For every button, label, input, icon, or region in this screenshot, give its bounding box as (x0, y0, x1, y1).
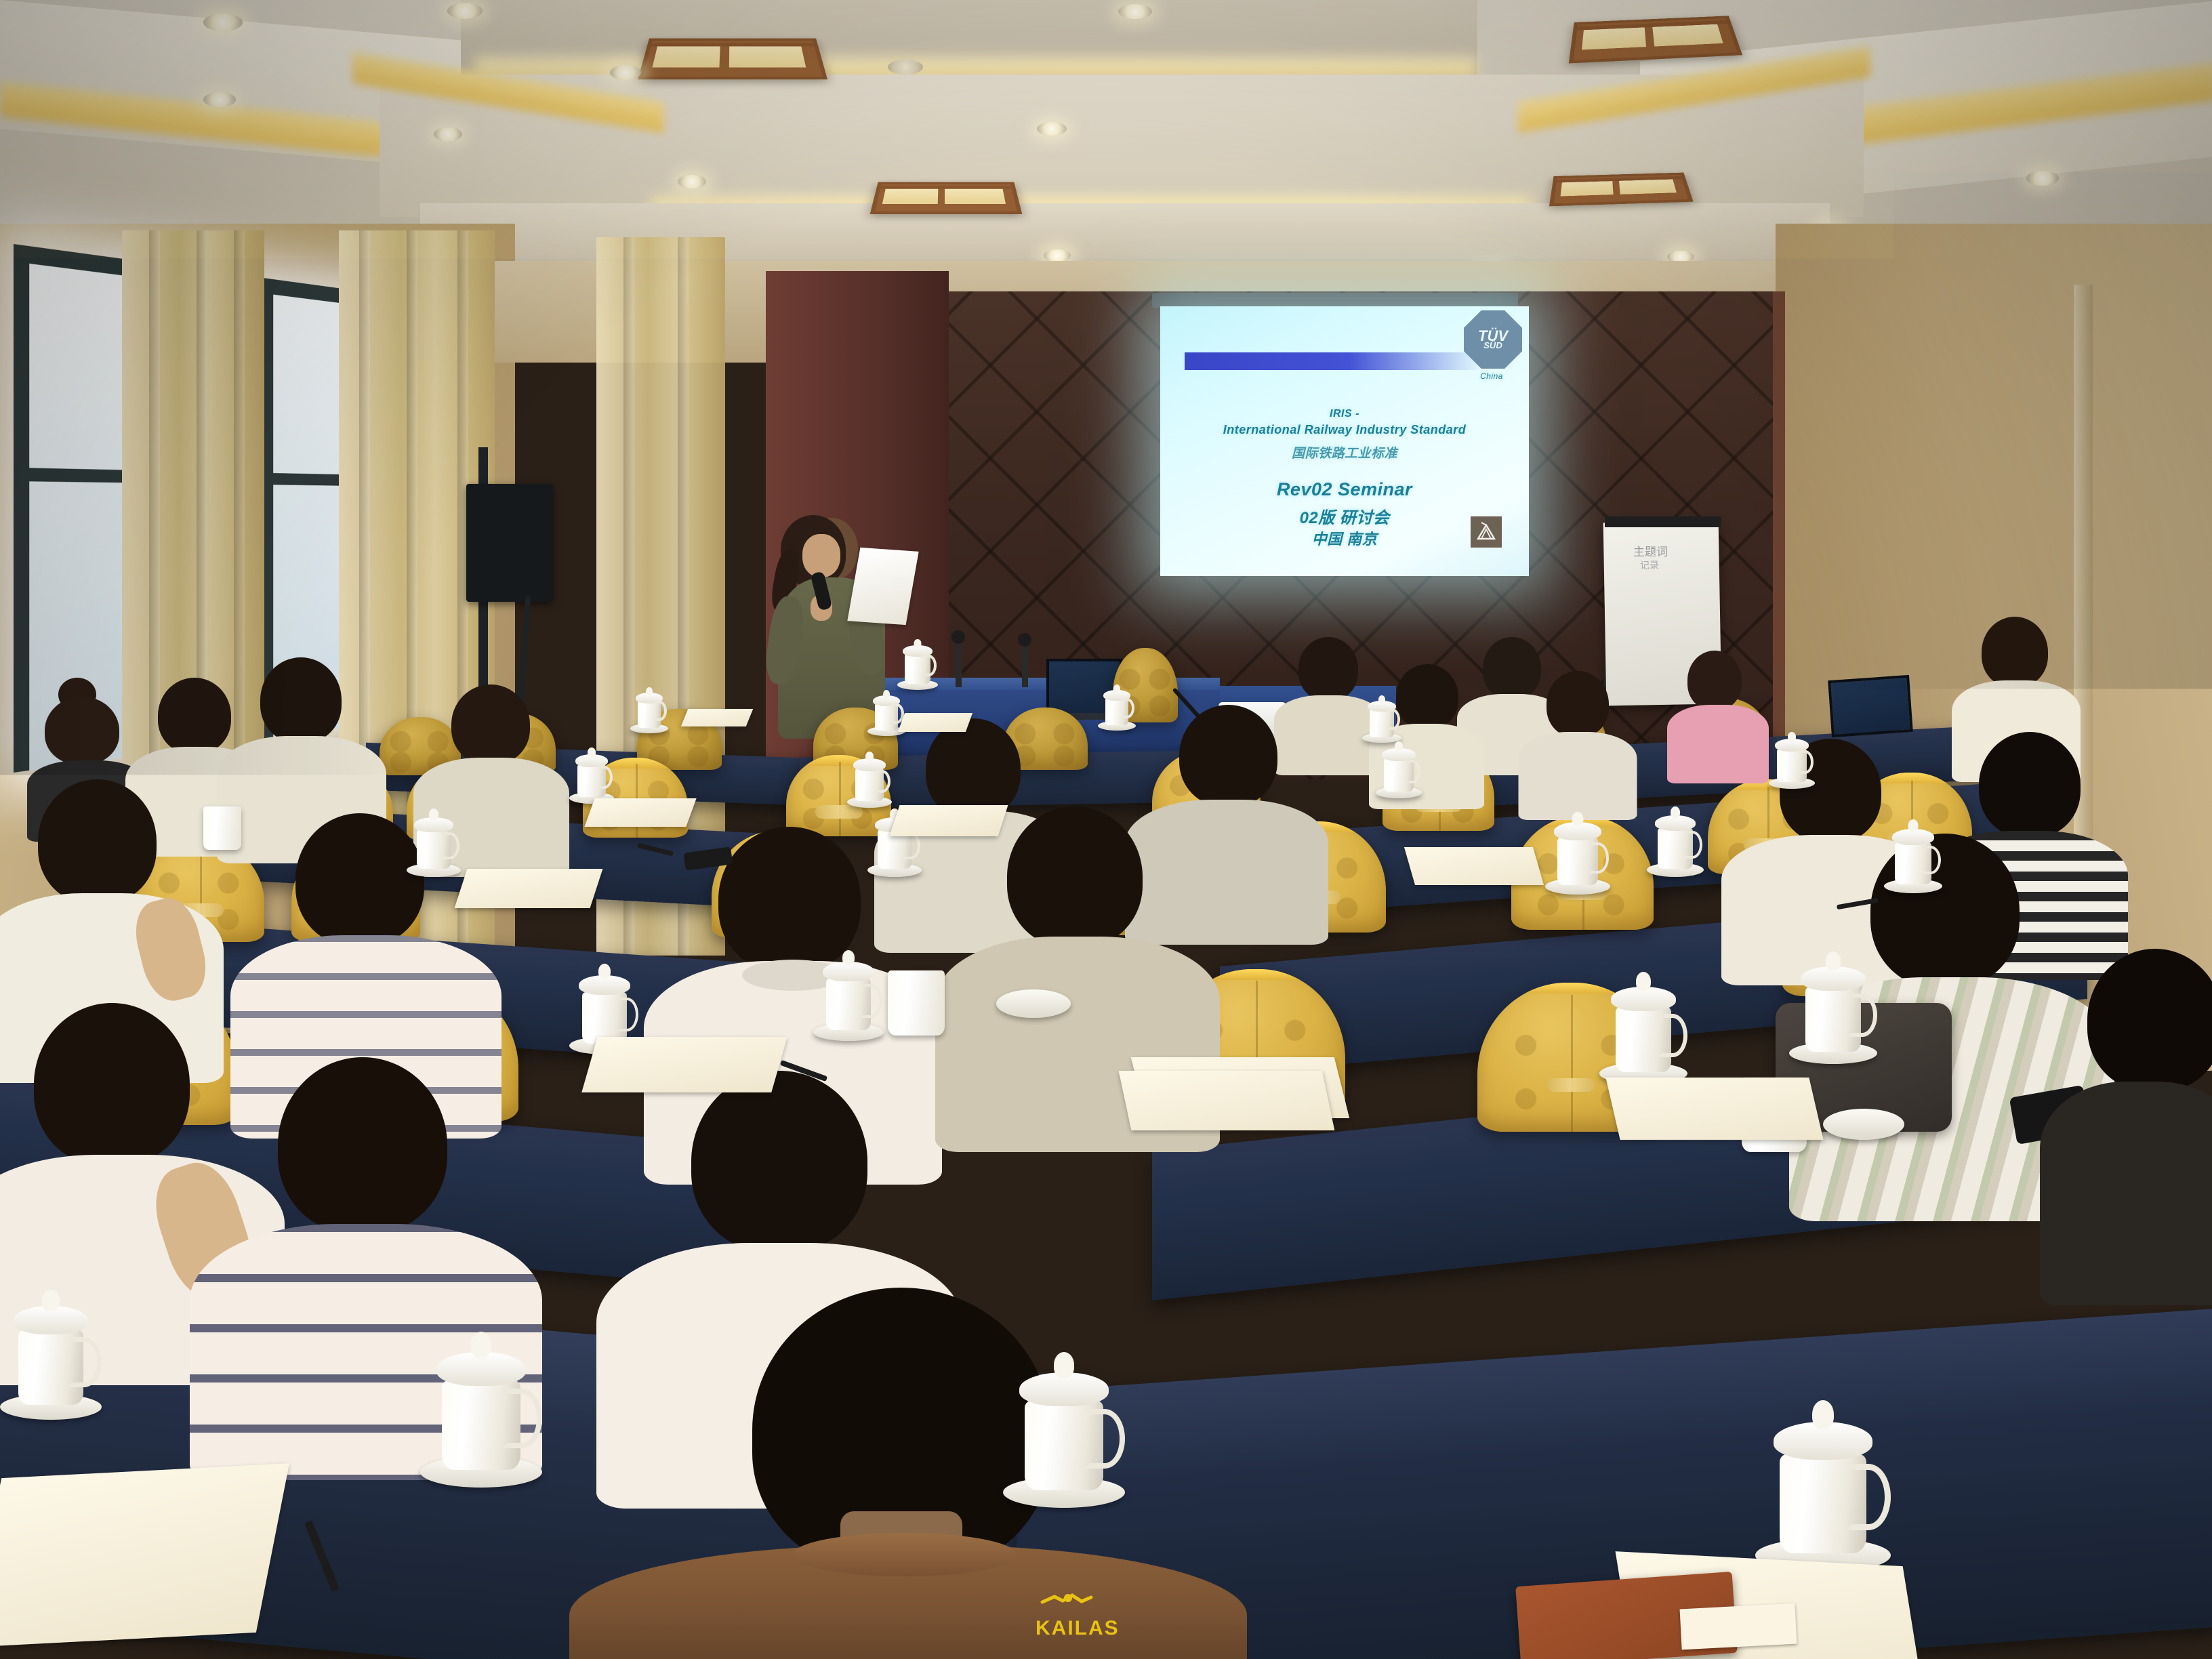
projection-screen-case (1152, 293, 1518, 308)
downlight-13 (678, 175, 706, 188)
attendee-head (295, 813, 424, 946)
downlight-8 (434, 127, 462, 141)
ceiling-lantern-3 (1569, 16, 1742, 63)
notepad-r3-2 (890, 805, 1008, 836)
attendee-head (926, 718, 1021, 819)
white-mug-center (888, 970, 945, 1036)
microphone-stand-1[interactable] (956, 638, 962, 687)
white-saucer-right (1823, 1109, 1904, 1140)
tea-cup-r2-4 (1884, 817, 1942, 893)
microphone-head-1 (951, 630, 965, 644)
attendee-head (1547, 671, 1609, 737)
tea-cup-r1-2 (813, 949, 884, 1041)
tea-cup-back-3 (1098, 682, 1136, 731)
microphone-head-2 (1018, 633, 1031, 647)
tea-cup-r3-2 (847, 750, 892, 808)
tea-cup-front-right-of-head (1003, 1349, 1125, 1508)
attendee-far-right-dark (2040, 949, 2212, 1301)
attendee-head (1979, 732, 2081, 838)
attendee-head (451, 684, 530, 764)
tea-cup-front-left (0, 1288, 102, 1420)
attendee-head (34, 1003, 190, 1166)
attendee-head (1298, 637, 1358, 701)
tea-cup-mid-right-row-2 (1789, 949, 1877, 1064)
notepad-r2-1 (455, 869, 603, 908)
notepad-back-1 (681, 709, 754, 726)
downlight-9 (1044, 249, 1071, 262)
tea-cup-r3-1 (569, 745, 614, 804)
hotel-name-card (1680, 1603, 1797, 1650)
attendee-head (45, 697, 119, 764)
flipchart-ink-line-1: 主题词 (1633, 542, 1668, 559)
notepad-r2-2 (1404, 847, 1544, 885)
attendee-collar-kailas (793, 1533, 1017, 1576)
ceiling-lantern-2 (870, 182, 1023, 214)
attendee-head (278, 1057, 447, 1233)
kailas-logo-icon (1037, 1590, 1098, 1613)
tea-cup-r2-1 (407, 806, 461, 877)
stage-wall-right-trim (1773, 291, 1785, 779)
ceiling-lantern-4 (1549, 173, 1694, 207)
flipchart-clip (1605, 516, 1721, 527)
attendee-foreground-kailas: KAILAS (569, 1288, 1247, 1659)
tea-cup-back-1 (630, 684, 668, 733)
notepad-r1-3 (1605, 1078, 1823, 1140)
tuv-logo-bottom: SÜD (1483, 342, 1502, 350)
attendee-torso (1518, 732, 1637, 820)
tea-cup-presenter-side (1362, 691, 1401, 743)
tea-cup-front-far-right (1755, 1396, 1891, 1572)
tea-cup-r1-3 (1545, 811, 1610, 895)
tuv-logo-top: TÜV (1478, 330, 1508, 342)
conference-room-photo: TÜV SÜD China IRIS - International Railw… (0, 0, 2212, 1659)
tea-cup-r3-3 (1376, 739, 1422, 798)
tuv-logo-caption: China (1468, 371, 1515, 381)
attendee-head (2087, 949, 2212, 1091)
white-saucer-center (996, 989, 1071, 1018)
downlight-2 (447, 3, 483, 19)
slide-line-3-chinese: 国际铁路工业标准 (1160, 443, 1529, 462)
projection-screen: TÜV SÜD China IRIS - International Railw… (1160, 306, 1529, 576)
pa-speaker (466, 484, 553, 602)
downlight-10 (2026, 171, 2059, 186)
downlight-5 (1118, 4, 1152, 19)
attendee-torso (2040, 1082, 2212, 1305)
notepad-r3-1 (584, 798, 696, 827)
notepad-back-2 (898, 713, 972, 732)
attendee-head (691, 1071, 867, 1252)
presenter-face (802, 534, 840, 577)
ceiling-lantern-1 (638, 39, 827, 80)
slide-title-en: Rev02 Seminar (1160, 479, 1529, 500)
slide-line-2: International Railway Industry Standard (1160, 423, 1529, 437)
downlight-1 (203, 14, 243, 31)
notepad-foreground-left (0, 1463, 289, 1647)
kailas-brand-text: KAILAS (1036, 1617, 1120, 1640)
downlight-4 (610, 65, 641, 80)
attendee-laptop-screen[interactable] (1828, 675, 1913, 737)
attendee-back-center-3 (1518, 671, 1637, 817)
downlight-7 (203, 92, 236, 107)
slide-accent-bar (1185, 352, 1483, 370)
notepad-foreground-mid (1119, 1071, 1335, 1130)
tea-cup-front-center (420, 1328, 542, 1488)
tea-cup-head-table (897, 636, 938, 690)
slide-line-1: IRIS - (1160, 408, 1529, 420)
attendee-head (1982, 617, 2048, 687)
attendee-head (38, 779, 157, 904)
white-mug-left (203, 806, 241, 850)
tea-cup-r2-3 (1647, 804, 1704, 877)
downlight-6 (1037, 122, 1067, 136)
microphone-stand-2[interactable] (1022, 641, 1028, 687)
iris-logo-icon (1471, 516, 1502, 548)
notepad-r1-1 (581, 1037, 787, 1092)
attendee-head (1687, 651, 1742, 710)
attendee-head (1007, 806, 1143, 947)
attendee-head (1396, 664, 1458, 729)
attendee-head (260, 657, 342, 743)
downlight-3 (888, 60, 923, 75)
tea-cup-r3-4 (1769, 729, 1815, 789)
attendee-head (1179, 705, 1277, 806)
flipchart-ink-line-2: 记录 (1640, 558, 1659, 572)
tea-cup-mid-right-row (1599, 969, 1687, 1084)
